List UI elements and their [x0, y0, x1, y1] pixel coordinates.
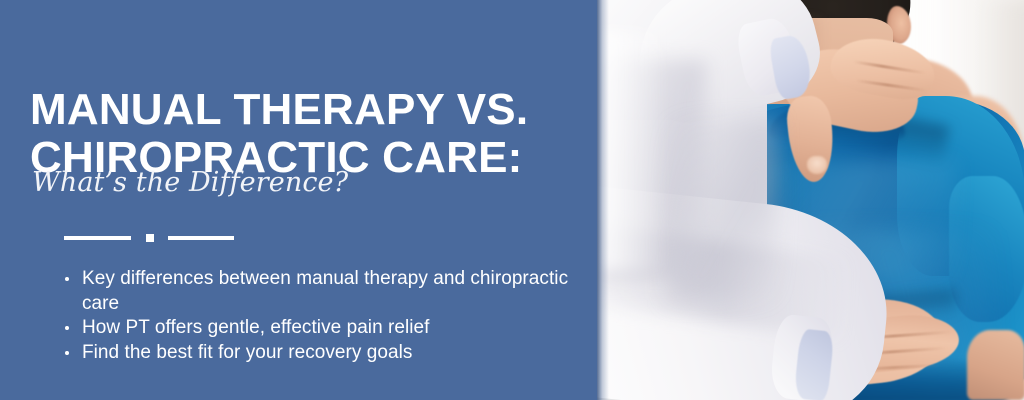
divider-line-right	[168, 236, 234, 240]
divider-square-dot	[146, 234, 154, 242]
photo-left-edge-shadow	[597, 0, 609, 400]
list-item: How PT offers gentle, effective pain rel…	[60, 316, 575, 341]
promo-banner: MANUAL THERAPY VS. CHIROPRACTIC CARE: Wh…	[0, 0, 1024, 400]
decorative-divider	[64, 234, 234, 242]
therapy-photo	[597, 0, 1024, 400]
patient-forearm-right	[967, 330, 1024, 400]
therapist-upper-hand-thumbnail	[807, 156, 827, 174]
bullet-dot-icon	[65, 326, 69, 330]
bullet-dot-icon	[65, 277, 69, 281]
headline-line-1: MANUAL THERAPY VS.	[30, 86, 575, 134]
list-item: Find the best fit for your recovery goal…	[60, 341, 575, 366]
left-text-panel: MANUAL THERAPY VS. CHIROPRACTIC CARE: Wh…	[0, 0, 597, 400]
therapist-lab-coat-shading-2	[667, 120, 777, 300]
list-item: Key differences between manual therapy a…	[60, 267, 575, 316]
panel-content: MANUAL THERAPY VS. CHIROPRACTIC CARE: Wh…	[30, 0, 575, 400]
list-item-label: How PT offers gentle, effective pain rel…	[82, 317, 430, 338]
list-item-label: Key differences between manual therapy a…	[82, 268, 568, 314]
list-item-label: Find the best fit for your recovery goal…	[82, 342, 412, 363]
key-points-list: Key differences between manual therapy a…	[60, 267, 575, 365]
subtitle: What’s the Difference?	[32, 166, 348, 200]
bullet-dot-icon	[65, 351, 69, 355]
divider-line-left	[64, 236, 131, 240]
